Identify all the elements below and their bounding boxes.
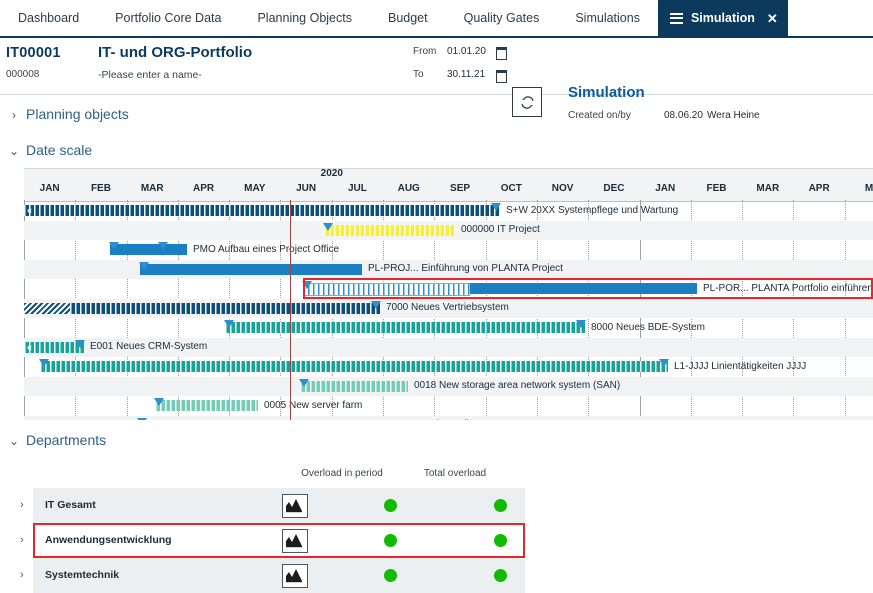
status-dot-overload-in-period[interactable] — [384, 499, 397, 512]
close-icon[interactable]: ✕ — [767, 12, 778, 25]
milestone-marker-end[interactable] — [75, 340, 85, 348]
chevron-down-icon[interactable]: ⌄ — [8, 144, 20, 158]
bar-chart-icon-button[interactable] — [282, 494, 308, 518]
gantt-row[interactable]: L1-JJJJ Linientätigkeiten JJJJ — [24, 357, 873, 377]
timescale-month-label: NOV — [537, 183, 588, 194]
tab-quality-gates[interactable]: Quality Gates — [446, 0, 558, 36]
column-header-overload-in-period: Overload in period — [282, 468, 402, 479]
gantt-row[interactable]: «S+W 20XX Systempflege und Wartung — [24, 201, 873, 221]
milestone-marker-mid[interactable] — [158, 242, 168, 250]
gantt-row[interactable]: PL-PROJ... Einführung von PLANTA Project — [24, 260, 873, 280]
timescale-month-label: MAR — [127, 183, 178, 194]
created-by-user: Wera Heine — [707, 110, 760, 121]
gantt-bar-label: PMO Aufbau eines Project Office — [193, 244, 339, 255]
tab-portfolio-core-data[interactable]: Portfolio Core Data — [97, 0, 239, 36]
today-marker-line — [290, 200, 291, 420]
portfolio-sub-id: 000008 — [6, 69, 39, 80]
tab-simulations[interactable]: Simulations — [557, 0, 658, 36]
status-dot-total-overload[interactable] — [494, 499, 507, 512]
gantt-bar-label: 8000 Neues BDE-System — [591, 322, 705, 333]
gantt-row[interactable]: 8000 Neues BDE-System — [24, 318, 873, 338]
timescale-month-label: MAR — [742, 183, 793, 194]
timescale-year-label: 2020 — [291, 168, 373, 179]
milestone-marker-start[interactable] — [139, 262, 149, 270]
portfolio-header: IT00001 000008 IT- und ORG-Portfolio -Pl… — [0, 38, 873, 95]
timescale-month-label: FEB — [691, 183, 742, 194]
timescale-month-label: SEP — [434, 183, 485, 194]
departments-panel: Overload in period Total overload ›IT Ge… — [0, 430, 873, 561]
department-name: Systemtechnik — [45, 569, 119, 581]
tab-planning-objects[interactable]: Planning Objects — [239, 0, 370, 36]
gantt-bar-label: 0018 New storage area network system (SA… — [414, 380, 620, 391]
to-label: To — [413, 69, 424, 80]
department-row[interactable]: ›IT Gesamt — [33, 488, 525, 523]
tab-list: DashboardPortfolio Core DataPlanning Obj… — [0, 0, 873, 36]
gantt-bar-label: S+W 20XX Systempflege und Wartung — [506, 205, 678, 216]
scroll-left-arrows-icon[interactable]: « — [27, 342, 31, 352]
gantt-row[interactable]: «E001 Neues CRM-System — [24, 338, 873, 358]
chevron-right-icon[interactable]: › — [20, 534, 24, 546]
created-on-by-label: Created on/by — [568, 110, 631, 121]
tab-simulation-active[interactable]: Simulation✕ — [658, 0, 788, 36]
gantt-row[interactable]: 0008 Neues Zugangskontrollsystem — [24, 416, 873, 421]
timescale-month-label: DEC — [588, 183, 639, 194]
tab-label: Simulations — [575, 11, 640, 25]
timescale-month-label: AUG — [383, 183, 434, 194]
gantt-bar-label: 7000 Neues Vertriebsystem — [386, 302, 509, 313]
bar-chart-icon — [283, 565, 305, 585]
timescale-month-label: FEB — [75, 183, 126, 194]
bar-chart-icon — [283, 495, 305, 515]
timescale-month-label: JUN — [280, 183, 331, 194]
milestone-marker-end[interactable] — [371, 301, 381, 309]
chevron-right-icon[interactable]: › — [8, 108, 20, 122]
highlighted-row-outline — [303, 278, 873, 299]
gantt-row[interactable]: 0018 New storage area network system (SA… — [24, 377, 873, 397]
gantt-row[interactable]: 0005 New server farm — [24, 396, 873, 416]
gantt-chart[interactable]: 2020JANFEBMARAPRMAYJUNJULAUGSEPOCTNOVDEC… — [0, 168, 873, 420]
tab-label: Simulation — [691, 11, 755, 25]
milestone-marker-start[interactable] — [137, 418, 147, 421]
tab-label: Dashboard — [18, 11, 79, 25]
page-title: IT- und ORG-Portfolio — [98, 44, 252, 61]
gantt-bar-label: L1-JJJJ Linientätigkeiten JJJJ — [674, 361, 806, 372]
gantt-bar-label: PL-PROJ... Einführung von PLANTA Project — [368, 263, 563, 274]
gantt-bar-label: 000000 IT Project — [461, 224, 540, 235]
portfolio-name-field[interactable]: -Please enter a name- — [98, 69, 202, 81]
milestone-marker-start[interactable] — [154, 398, 164, 406]
from-date-input[interactable]: 01.01.20 — [447, 46, 486, 57]
milestone-marker-start[interactable] — [224, 320, 234, 328]
gantt-bar[interactable] — [40, 361, 668, 372]
tab-label: Portfolio Core Data — [115, 11, 221, 25]
tab-budget[interactable]: Budget — [370, 0, 446, 36]
calendar-icon[interactable] — [496, 70, 507, 83]
refresh-button[interactable] — [512, 87, 542, 117]
milestone-marker-start[interactable] — [39, 359, 49, 367]
gantt-bar[interactable] — [225, 322, 585, 333]
tab-label: Quality Gates — [464, 11, 540, 25]
milestone-marker-start[interactable] — [323, 223, 333, 231]
to-date-input[interactable]: 30.11.21 — [447, 69, 485, 80]
created-date: 08.06.20 — [664, 110, 703, 121]
milestone-marker-start[interactable] — [299, 379, 309, 387]
department-row[interactable]: ›Systemtechnik — [33, 558, 525, 593]
milestone-marker-end[interactable] — [576, 320, 586, 328]
gantt-bar[interactable] — [155, 400, 258, 411]
gantt-bar[interactable] — [24, 205, 500, 216]
department-name: IT Gesamt — [45, 499, 96, 511]
gantt-bar[interactable] — [70, 303, 380, 314]
chevron-right-icon[interactable]: › — [20, 499, 24, 511]
gantt-bar[interactable] — [140, 264, 362, 275]
top-tab-bar: DashboardPortfolio Core DataPlanning Obj… — [0, 0, 873, 38]
hamburger-icon[interactable] — [670, 13, 683, 24]
gantt-bar-label: E001 Neues CRM-System — [90, 341, 207, 352]
status-dot-overload-in-period[interactable] — [384, 569, 397, 582]
gantt-bar-label: 0008 Neues Zugangskontrollsystem — [341, 419, 501, 420]
section-label: Planning objects — [26, 106, 129, 122]
milestone-marker-start[interactable] — [109, 242, 119, 250]
gantt-row[interactable]: PMO Aufbau eines Project Office — [24, 240, 873, 260]
portfolio-id: IT00001 — [6, 45, 61, 61]
tab-label: Planning Objects — [257, 11, 352, 25]
status-dot-total-overload[interactable] — [494, 569, 507, 582]
highlighted-department-outline — [33, 523, 525, 558]
scroll-left-arrows-icon[interactable]: « — [27, 205, 31, 215]
from-label: From — [413, 46, 436, 57]
timescale-month-label: JUL — [332, 183, 383, 194]
column-header-total-overload: Total overload — [395, 468, 515, 479]
timescale-month-label: M. — [845, 183, 873, 194]
gantt-bar[interactable] — [324, 225, 455, 236]
gantt-bar-label: 0005 New server farm — [264, 400, 362, 411]
timescale-month-label: JAN — [24, 183, 75, 194]
refresh-icon — [519, 94, 536, 111]
gantt-bar[interactable] — [300, 381, 408, 392]
timescale-month-label: OCT — [486, 183, 537, 194]
simulation-title: Simulation — [568, 84, 645, 101]
gantt-row[interactable]: 000000 IT Project — [24, 221, 873, 241]
section-label: Date scale — [26, 142, 92, 158]
gantt-row[interactable]: 7000 Neues Vertriebsystem — [24, 299, 873, 319]
timescale-month-label: APR — [793, 183, 844, 194]
gantt-bar[interactable] — [110, 244, 187, 255]
timescale-month-label: MAY — [229, 183, 280, 194]
bar-chart-icon-button[interactable] — [282, 564, 308, 588]
milestone-marker-end[interactable] — [659, 359, 669, 367]
tab-label: Budget — [388, 11, 428, 25]
chevron-right-icon[interactable]: › — [20, 569, 24, 581]
gantt-bar-hatched[interactable] — [24, 303, 70, 314]
tab-dashboard[interactable]: Dashboard — [0, 0, 97, 36]
calendar-icon[interactable] — [496, 47, 507, 60]
gantt-bar[interactable] — [138, 420, 335, 421]
milestone-marker-end[interactable] — [491, 203, 501, 211]
timescale-month-label: APR — [178, 183, 229, 194]
timescale-month-label: JAN — [640, 183, 691, 194]
